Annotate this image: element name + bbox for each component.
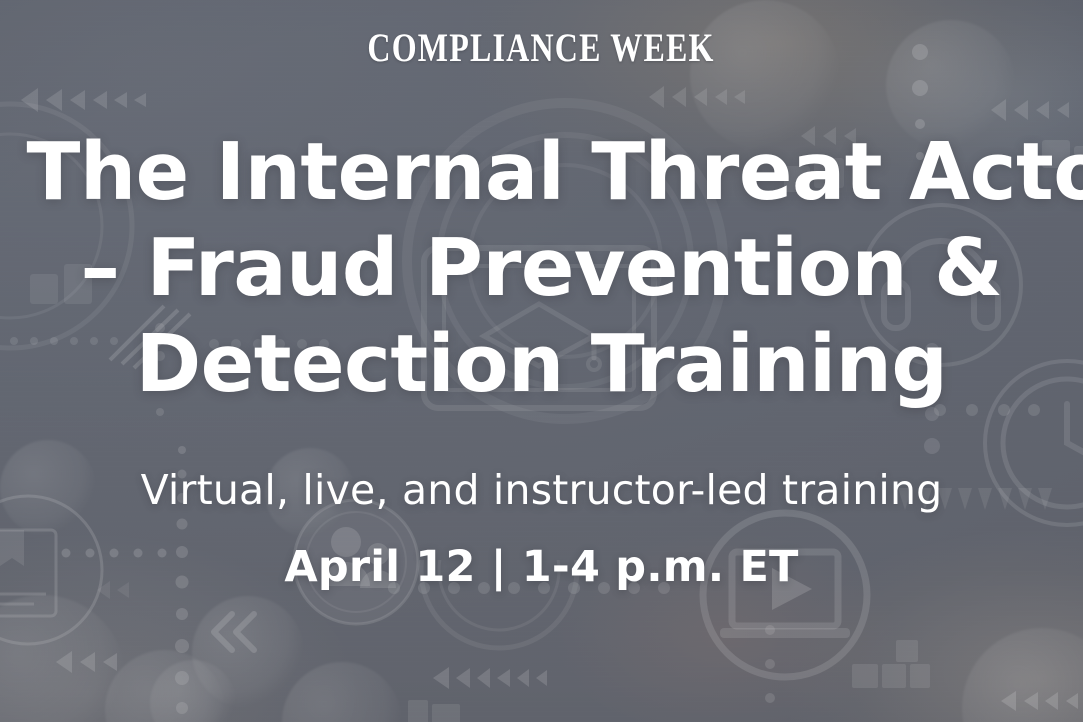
banner-content: COMPLIANCE WEEK The Internal Threat Acto…: [0, 0, 1083, 722]
page-title: The Internal Threat Actor – Fraud Preven…: [27, 124, 1057, 412]
headline-line-1: The Internal Threat Actor: [27, 124, 1057, 220]
promo-banner: COMPLIANCE WEEK The Internal Threat Acto…: [0, 0, 1083, 722]
headline-line-3: Detection Training: [27, 316, 1057, 412]
event-subtitle: Virtual, live, and instructor-led traini…: [141, 468, 943, 513]
event-datetime: April 12 | 1-4 p.m. ET: [284, 544, 798, 591]
headline-line-2: – Fraud Prevention &: [27, 220, 1057, 316]
brand-logo: COMPLIANCE WEEK: [368, 28, 715, 68]
